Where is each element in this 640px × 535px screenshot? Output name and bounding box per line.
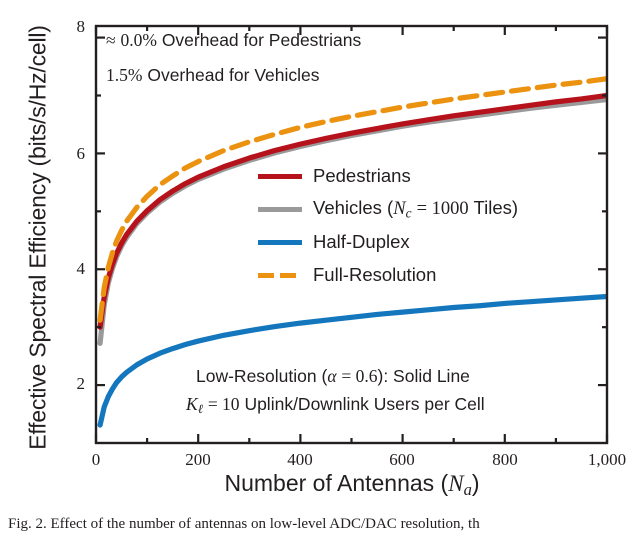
y-tick-label-2: 2: [59, 374, 85, 394]
k-value: = 10: [208, 394, 240, 414]
overhead-pedestrians-value: 0.0%: [120, 30, 156, 50]
overhead-vehicles-value: 1.5%: [106, 65, 142, 85]
annotation-overhead-pedestrians: ≈ 0.0% Overhead for Pedestrians: [106, 30, 361, 51]
x-tick-label-200: 200: [163, 450, 233, 470]
alpha-value: = 0.6: [341, 366, 377, 386]
x-axis-label-suffix: ): [472, 470, 480, 496]
x-tick-label-600: 600: [367, 450, 437, 470]
low-resolution-suffix: ): Solid Line: [378, 366, 470, 386]
approx-symbol: ≈: [106, 30, 116, 50]
legend-swatch-vehicles-icon: [258, 207, 302, 212]
legend-label-pedestrians: Pedestrians: [313, 165, 411, 187]
low-resolution-prefix: Low-Resolution (: [196, 366, 327, 386]
annotation-users-per-cell: Kℓ = 10 Uplink/Downlink Users per Cell: [186, 394, 485, 417]
overhead-pedestrians-text: Overhead for Pedestrians: [162, 30, 361, 50]
annotation-overhead-vehicles: 1.5% Overhead for Vehicles: [106, 65, 320, 86]
legend-label-full-resolution: Full-Resolution: [313, 264, 436, 286]
x-axis-label-text: Number of Antennas (: [224, 470, 448, 496]
y-tick-label-8: 8: [59, 17, 85, 37]
legend-item-pedestrians: Pedestrians: [258, 163, 411, 189]
x-tick-label-800: 800: [470, 450, 540, 470]
y-tick-label-4: 4: [59, 259, 85, 279]
overhead-vehicles-text: Overhead for Vehicles: [147, 65, 319, 85]
x-axis-label: Number of Antennas (Na): [96, 470, 608, 500]
figure-caption: Fig. 2. Effect of the number of antennas…: [8, 516, 632, 533]
y-tick-label-6: 6: [59, 144, 85, 164]
x-tick-label-400: 400: [265, 450, 335, 470]
alpha-symbol: α: [327, 366, 336, 386]
x-axis-label-symbol: N: [448, 471, 463, 496]
legend-vehicles-symbol: N: [393, 199, 405, 219]
x-tick-label-0: 0: [61, 450, 131, 470]
legend-item-full-resolution: Full-Resolution: [258, 262, 436, 288]
k-subscript: ℓ: [198, 402, 203, 416]
legend-swatch-pedestrians-icon: [258, 174, 302, 179]
legend-swatch-half-duplex-icon: [258, 240, 302, 245]
x-tick-label-1000: 1,000: [572, 450, 640, 470]
legend-vehicles-prefix: Vehicles (: [313, 197, 393, 218]
legend-swatch-full-resolution-icon: [258, 273, 302, 278]
k-symbol: K: [186, 394, 198, 414]
x-axis-label-subscript: a: [464, 480, 472, 499]
annotation-low-resolution: Low-Resolution (α = 0.6): Solid Line: [196, 366, 470, 387]
legend-item-half-duplex: Half-Duplex: [258, 229, 410, 255]
legend-vehicles-suffix: Tiles): [474, 197, 519, 218]
legend-vehicles-subscript: c: [406, 205, 412, 220]
users-per-cell-text: Uplink/Downlink Users per Cell: [244, 394, 484, 414]
legend-vehicles-value: = 1000: [417, 199, 469, 219]
legend-label-vehicles: Vehicles (Nc = 1000 Tiles): [313, 197, 518, 221]
legend-item-vehicles: Vehicles (Nc = 1000 Tiles): [258, 196, 518, 222]
figure-container: Effective Spectral Efficiency (bits/s/Hz…: [0, 0, 640, 535]
legend-label-half-duplex: Half-Duplex: [313, 231, 410, 253]
